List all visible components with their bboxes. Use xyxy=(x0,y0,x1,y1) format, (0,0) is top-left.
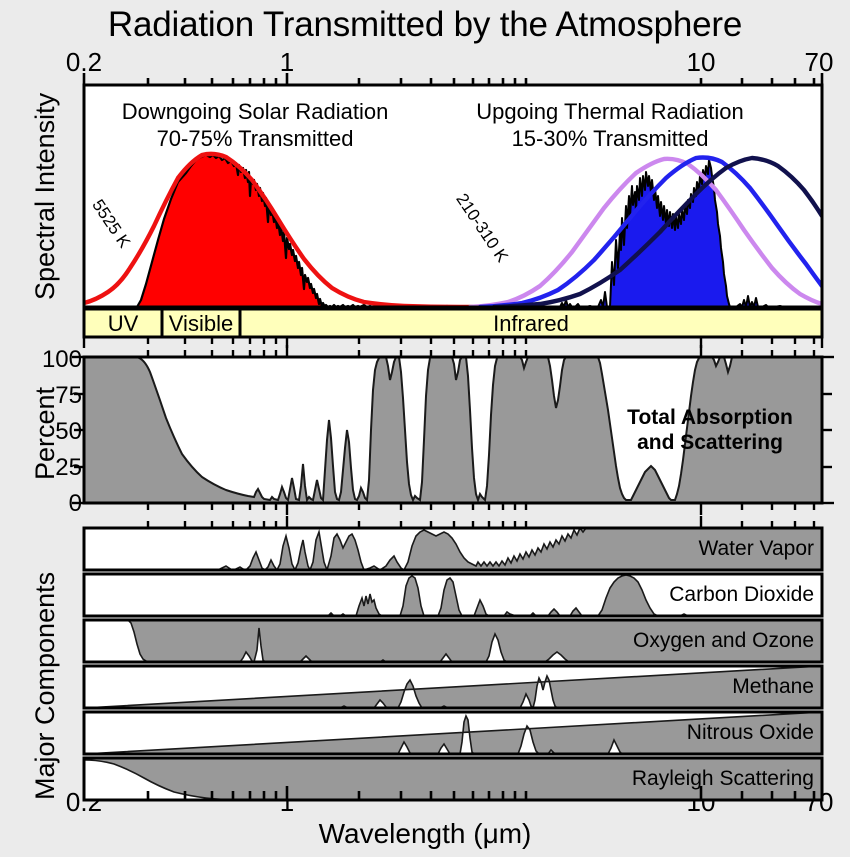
component-label-oxygen-ozone: Oxygen and Ozone xyxy=(520,630,814,651)
band-label-visible: Visible xyxy=(162,313,240,335)
solar-annotation-line2: 70-75% Transmitted xyxy=(100,125,410,152)
component-label-nitrous-oxide: Nitrous Oxide xyxy=(520,722,814,743)
band-label-infrared: Infrared xyxy=(240,313,822,335)
component-label-water-vapor: Water Vapor xyxy=(520,538,814,559)
component-label-methane: Methane xyxy=(520,676,814,697)
top-axis xyxy=(84,73,822,85)
component-label-carbon-dioxide: Carbon Dioxide xyxy=(520,584,814,605)
component-label-rayleigh-scattering: Rayleigh Scattering xyxy=(520,768,814,789)
components-top-ticks xyxy=(148,516,814,528)
band-label-uv: UV xyxy=(84,313,162,335)
thermal-annotation-line2: 15-30% Transmitted xyxy=(455,125,765,152)
solar-annotation-line1: Downgoing Solar Radiation xyxy=(100,98,410,125)
total-absorption-note-line2: and Scattering xyxy=(610,430,810,455)
total-absorption-note-line1: Total Absorption xyxy=(610,405,810,430)
chart-figure: Radiation Transmitted by the Atmosphere … xyxy=(0,0,850,857)
thermal-annotation-line1: Upgoing Thermal Radiation xyxy=(455,98,765,125)
band-bar-ticks xyxy=(84,337,822,348)
